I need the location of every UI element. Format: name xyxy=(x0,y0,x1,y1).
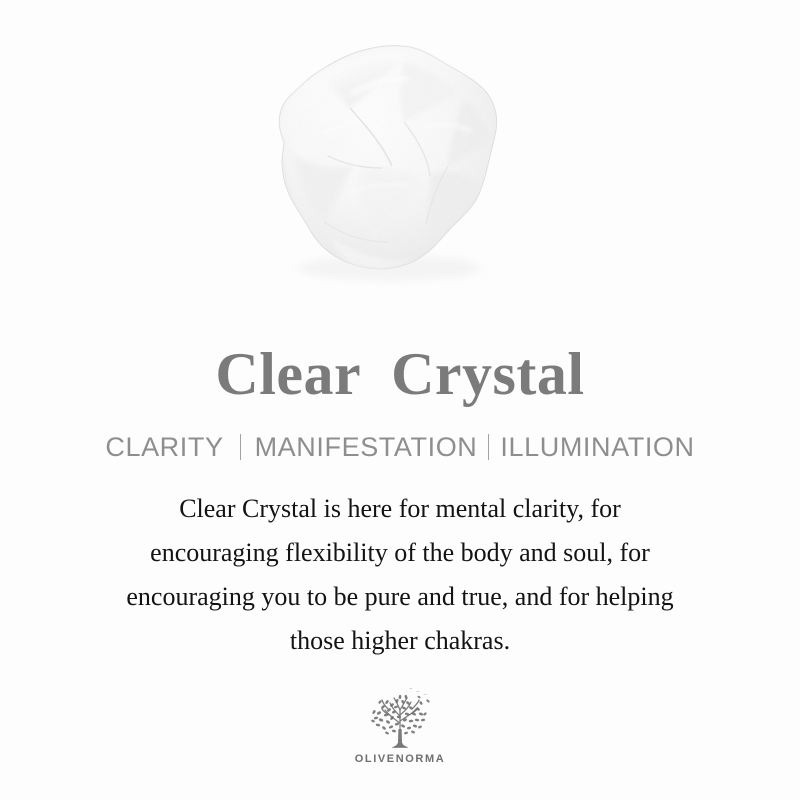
olive-tree-icon xyxy=(361,685,439,753)
brand-logo: OLIVENORMA xyxy=(355,685,446,765)
keyword-clarity: CLARITY xyxy=(105,434,223,461)
keyword-separator-icon xyxy=(488,434,489,460)
clear-crystal-icon xyxy=(232,24,540,292)
keyword-manifestation: MANIFESTATION xyxy=(255,434,478,461)
brand-name: OLIVENORMA xyxy=(355,754,446,765)
product-description: Clear Crystal is here for mental clarity… xyxy=(40,461,760,663)
clear-crystal-image xyxy=(232,24,540,292)
description-line: those higher chakras. xyxy=(40,619,760,663)
description-line: encouraging flexibility of the body and … xyxy=(40,531,760,575)
description-line: encouraging you to be pure and true, and… xyxy=(40,575,760,619)
product-info-card: Clear Crystal CLARITY MANIFESTATION ILLU… xyxy=(0,0,800,800)
keyword-illumination: ILLUMINATION xyxy=(500,434,694,461)
description-line: Clear Crystal is here for mental clarity… xyxy=(40,487,760,531)
keyword-separator-icon xyxy=(240,434,241,460)
product-title: Clear Crystal xyxy=(215,318,584,404)
product-image-area xyxy=(0,0,800,318)
keyword-list: CLARITY MANIFESTATION ILLUMINATION xyxy=(105,404,694,461)
